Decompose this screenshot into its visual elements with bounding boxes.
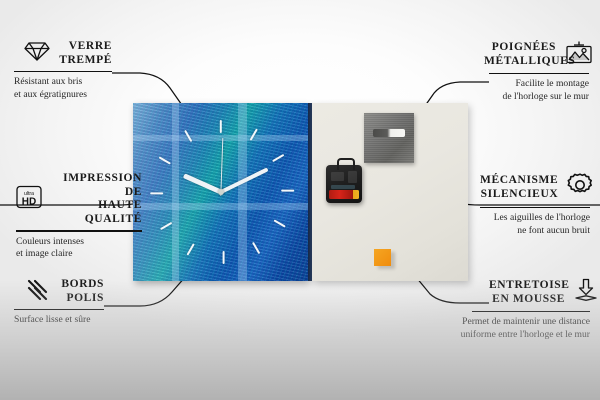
feature-subtitle-line1: Résistant aux bris — [14, 76, 132, 89]
feature-subtitle-line1: Surface lisse et sûre — [14, 314, 140, 327]
battery — [329, 190, 359, 199]
feature-mecanisme-silencieux: MÉCANISME SILENCIEUX Les aiguilles de l'… — [480, 172, 590, 238]
foam-spacer-arrow-icon — [574, 278, 598, 307]
foam-spacer — [374, 249, 391, 266]
feature-title-line2: HAUTE QUALITÉ — [51, 199, 142, 226]
feature-subtitle-line1: Permet de maintenir une distance — [440, 316, 590, 329]
clock-tick — [222, 251, 224, 264]
clock-face — [133, 103, 308, 281]
clock-tick — [150, 192, 163, 194]
feature-subtitle-line1: Facilite le montage — [485, 78, 589, 91]
clock-back-panel — [312, 103, 468, 281]
svg-text:HD: HD — [22, 196, 36, 207]
gear-icon — [567, 172, 593, 203]
divider — [480, 207, 590, 208]
feature-title-line2: SILENCIEUX — [480, 188, 558, 202]
clock-tick — [272, 154, 284, 163]
divider — [489, 73, 589, 74]
feature-subtitle-line2: de l'horloge sur le mur — [485, 91, 589, 104]
mechanism-detail — [331, 172, 344, 181]
feature-subtitle-line1: Les aiguilles de l'horloge — [474, 212, 590, 225]
feature-title-line1: BORDS — [61, 278, 104, 292]
divider — [472, 311, 590, 312]
feature-subtitle-line2: et image claire — [16, 248, 142, 261]
diamond-icon — [24, 40, 50, 67]
feature-subtitle-line2: ne font aucun bruit — [474, 225, 590, 238]
feature-verre-trempe: VERRE TREMPÉ Résistant aux bris et aux é… — [14, 40, 112, 102]
feature-impression-haute-qualite: ultra HD IMPRESSION DE HAUTE QUALITÉ Cou… — [16, 172, 142, 261]
mechanism-detail — [348, 171, 357, 183]
ultra-hd-icon: ultra HD — [16, 185, 42, 214]
feature-poignees-metalliques: POIGNÉES MÉTALLIQUES Facilite le montage… — [489, 40, 589, 104]
clock-mechanism — [326, 165, 362, 203]
feature-title-line1: MÉCANISME — [480, 174, 558, 188]
mechanism-hook — [337, 158, 355, 170]
hanger-keyhole-slot — [373, 129, 405, 137]
feature-bords-polis: BORDS POLIS Surface lisse et sûre — [14, 278, 104, 327]
divider — [16, 230, 142, 231]
divider — [14, 309, 104, 310]
feature-title-line2: POLIS — [61, 292, 104, 306]
feature-title-line1: POIGNÉES — [484, 41, 556, 55]
metal-hanger-plate — [364, 113, 414, 163]
feature-subtitle-line2: et aux égratignures — [14, 89, 132, 102]
feature-title-line2: EN MOUSSE — [489, 293, 565, 307]
feature-title-line2: TREMPÉ — [59, 54, 112, 68]
clock-tick — [281, 190, 294, 192]
feature-entretoise-en-mousse: ENTRETOISE EN MOUSSE Permet de maintenir… — [472, 278, 590, 342]
product-image — [133, 103, 468, 281]
polished-edges-icon — [26, 278, 52, 305]
feature-subtitle-line1: Couleurs intenses — [16, 236, 142, 249]
clock-tick — [273, 219, 285, 228]
feature-subtitle-line2: uniforme entre l'horloge et le mur — [440, 329, 590, 342]
clock-center-cap — [218, 189, 224, 195]
wall-mount-frame-icon — [565, 40, 593, 69]
divider — [14, 71, 112, 72]
feature-title-line1: IMPRESSION DE — [51, 172, 142, 199]
feature-title-line1: VERRE — [59, 40, 112, 54]
mechanism-detail — [331, 185, 355, 189]
feature-title-line1: ENTRETOISE — [489, 279, 565, 293]
feature-title-line2: MÉTALLIQUES — [484, 55, 556, 69]
infographic-canvas: VERRE TREMPÉ Résistant aux bris et aux é… — [0, 0, 600, 400]
